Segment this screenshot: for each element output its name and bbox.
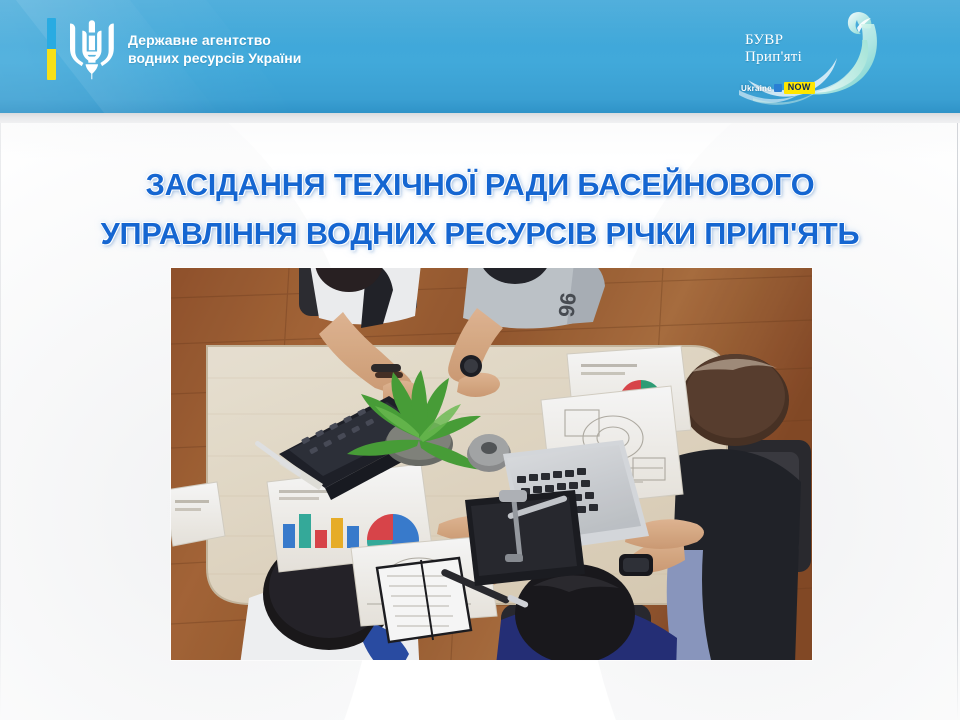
- header-underline: [0, 113, 960, 123]
- buvr-logo-group: БУВР Прип'яті Ukraine NOW: [733, 6, 898, 110]
- agency-logo-group: Державне агентство водних ресурсів Украї…: [47, 17, 302, 81]
- ukraine-now-word: Ukraine: [741, 84, 772, 93]
- meeting-photo-illustration: 96: [171, 268, 812, 660]
- buvr-name-label: БУВР Прип'яті: [745, 32, 802, 66]
- ukrainian-trident-emblem-icon: [66, 17, 118, 81]
- ukraine-now-label: NOW: [784, 82, 815, 94]
- agency-name-label: Державне агентство водних ресурсів Украї…: [128, 31, 302, 67]
- meeting-photo: 96: [171, 268, 812, 660]
- slide-header-band: Державне агентство водних ресурсів Украї…: [0, 0, 960, 113]
- presentation-slide: Державне агентство водних ресурсів Украї…: [0, 0, 960, 720]
- ukraine-flag-bar-icon: [47, 18, 56, 80]
- ukraine-now-badge: Ukraine NOW: [741, 82, 815, 94]
- ukraine-now-square-icon: [774, 84, 782, 92]
- slide-title: ЗАСІДАННЯ ТЕХІЧНОЇ РАДИ БАСЕЙНОВОГО УПРА…: [5, 160, 955, 258]
